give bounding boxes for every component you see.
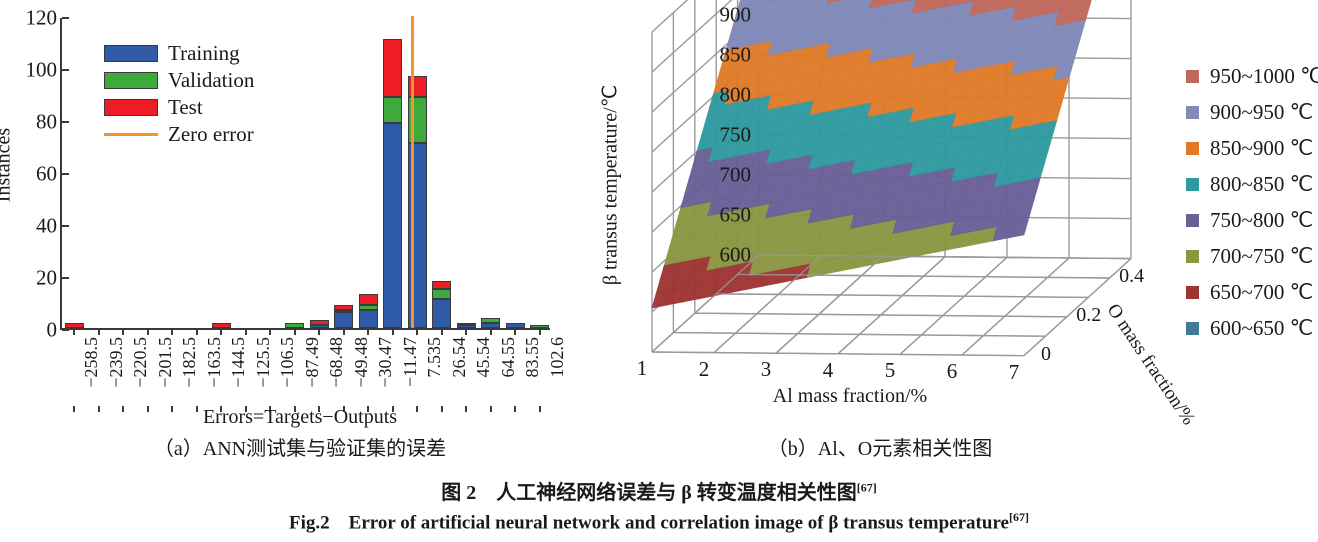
surface-y-tick-0: 0	[1041, 344, 1051, 364]
x-tick-label: −258.5	[82, 337, 100, 388]
legend-band-swatch	[1186, 214, 1199, 227]
x-tick-label: −125.5	[254, 337, 272, 388]
legend-band-label: 750~800 ℃	[1210, 210, 1313, 231]
bar-segment-training	[359, 310, 378, 328]
legend-band-label: 650~700 ℃	[1210, 282, 1313, 303]
legend-band-label: 850~900 ℃	[1210, 138, 1313, 159]
x-tick-label: 7.535	[425, 337, 443, 378]
x-tick-mark-lower	[490, 406, 492, 412]
legend-band-swatch	[1186, 250, 1199, 263]
y-tick-mark	[62, 329, 69, 331]
y-tick-label: 40	[36, 216, 62, 237]
surface-y-tick-0.2: 0.2	[1076, 305, 1101, 325]
bar-segment-test	[432, 281, 451, 289]
legend-swatch-training	[104, 45, 158, 62]
x-tick-mark	[98, 328, 100, 335]
y-tick-label: 80	[36, 112, 62, 133]
x-tick-label: −182.5	[180, 337, 198, 388]
histogram-plot-area: TrainingValidationTestZero error 0204060…	[60, 18, 550, 330]
y-tick-mark	[62, 17, 69, 19]
x-tick-mark	[269, 328, 271, 335]
panel-b-surface: β transus temperature/℃ 6006507007508008…	[600, 0, 1200, 470]
figure-caption-english-ref: [67]	[1009, 510, 1029, 524]
legend-band-swatch	[1186, 322, 1199, 335]
zero-error-line	[411, 16, 414, 328]
x-tick-mark	[539, 328, 541, 335]
bar-segment-validation	[359, 305, 378, 310]
temperature-band-legend: 950~1000 ℃900~950 ℃850~900 ℃800~850 ℃750…	[1186, 58, 1316, 346]
y-tick-80: 80	[36, 112, 62, 133]
bar-segment-test	[334, 305, 353, 310]
surface-x-tick-3: 3	[761, 359, 772, 380]
legend-label: Training	[168, 43, 240, 64]
histogram-y-axis-label: Instances	[0, 128, 16, 202]
panel-b-caption: （b）Al、O元素相关性图	[768, 432, 992, 461]
y-tick-mark	[62, 173, 69, 175]
x-tick-label: 45.54	[474, 337, 492, 378]
legend-band-swatch	[1186, 106, 1199, 119]
y-tick-60: 60	[36, 164, 62, 185]
legend-band-750800: 750~800 ℃	[1186, 202, 1316, 238]
surface-x-tick-5: 5	[885, 360, 896, 381]
x-tick-label: −11.47	[401, 337, 419, 387]
legend-band-800850: 800~850 ℃	[1186, 166, 1316, 202]
y-tick-120: 120	[26, 8, 63, 29]
bar-segment-test	[310, 320, 329, 325]
legend-band-850900: 850~900 ℃	[1186, 130, 1316, 166]
legend-item-validation: Validation	[104, 67, 254, 94]
surface-x-tick-1: 1	[637, 358, 648, 379]
x-tick-label: −201.5	[156, 337, 174, 388]
x-tick-label: −106.5	[278, 337, 296, 388]
panel-a-histogram: Instances TrainingValidationTestZero err…	[0, 0, 600, 470]
histogram-bar	[481, 318, 500, 328]
surface-y-tick-0.4: 0.4	[1119, 266, 1144, 286]
bar-segment-test	[383, 39, 402, 96]
bar-segment-validation	[457, 323, 476, 326]
x-tick-mark	[514, 328, 516, 335]
legend-label: Validation	[168, 70, 254, 91]
x-tick-mark	[465, 328, 467, 335]
bar-segment-training	[334, 312, 353, 328]
figure-caption-chinese-ref: [67]	[857, 480, 877, 494]
x-tick-label: 83.55	[523, 337, 541, 378]
legend-swatch-test	[104, 99, 158, 116]
x-tick-mark	[122, 328, 124, 335]
legend-band-swatch	[1186, 286, 1199, 299]
surface-x-axis-label: Al mass fraction/%	[773, 385, 927, 408]
x-tick-mark-lower	[73, 406, 75, 412]
legend-band-9501000: 950~1000 ℃	[1186, 58, 1316, 94]
x-tick-mark-lower	[171, 406, 173, 412]
figure-caption-chinese: 图 2 人工神经网络误差与 β 转变温度相关性图[67]	[441, 476, 877, 505]
x-tick-mark-lower	[416, 406, 418, 412]
surface-z-tick-750: 750	[720, 125, 752, 146]
x-tick-mark-lower	[122, 406, 124, 412]
histogram-bar	[432, 281, 451, 328]
legend-band-label: 900~950 ℃	[1210, 102, 1313, 123]
x-tick-label: −239.5	[107, 337, 125, 388]
bar-segment-validation	[334, 310, 353, 313]
bar-segment-test	[359, 294, 378, 304]
x-tick-label: −49.48	[352, 337, 370, 388]
histogram-legend: TrainingValidationTestZero error	[104, 40, 254, 148]
surface-z-tick-900: 900	[720, 5, 752, 26]
bar-segment-validation	[481, 318, 500, 323]
histogram-bar	[383, 39, 402, 328]
legend-band-label: 800~850 ℃	[1210, 174, 1313, 195]
y-tick-mark	[62, 121, 69, 123]
bar-segment-training	[383, 123, 402, 328]
x-tick-mark	[73, 328, 75, 335]
legend-band-label: 600~650 ℃	[1210, 318, 1313, 339]
x-tick-mark-lower	[147, 406, 149, 412]
legend-swatch-validation	[104, 72, 158, 89]
x-tick-mark-lower	[98, 406, 100, 412]
x-tick-label: −87.49	[303, 337, 321, 388]
figure-caption-chinese-text: 图 2 人工神经网络误差与 β 转变温度相关性图	[441, 482, 857, 504]
y-tick-mark	[62, 277, 69, 279]
histogram-bar	[359, 294, 378, 328]
x-tick-label: −163.5	[205, 337, 223, 388]
legend-band-label: 700~750 ℃	[1210, 246, 1313, 267]
histogram-bar	[310, 320, 329, 328]
legend-band-900950: 900~950 ℃	[1186, 94, 1316, 130]
x-tick-mark	[147, 328, 149, 335]
x-tick-mark	[343, 328, 345, 335]
legend-item-zero-error: Zero error	[104, 121, 254, 148]
legend-item-test: Test	[104, 94, 254, 121]
x-tick-mark	[220, 328, 222, 335]
legend-label: Test	[168, 97, 203, 118]
bar-segment-validation	[383, 97, 402, 123]
x-tick-label: −30.47	[376, 337, 394, 388]
y-tick-100: 100	[26, 60, 63, 81]
x-tick-mark	[171, 328, 173, 335]
x-tick-label: 102.6	[548, 337, 566, 378]
y-tick-mark	[62, 225, 69, 227]
x-tick-mark-lower	[514, 406, 516, 412]
x-tick-label: −144.5	[229, 337, 247, 388]
x-tick-mark	[318, 328, 320, 335]
y-tick-40: 40	[36, 216, 62, 237]
histogram-x-axis-label: Errors=Targets−Outputs	[203, 406, 397, 429]
y-tick-label: 60	[36, 164, 62, 185]
x-tick-mark-lower	[539, 406, 541, 412]
x-tick-label: −68.48	[327, 337, 345, 388]
x-tick-mark	[245, 328, 247, 335]
x-tick-mark-lower	[441, 406, 443, 412]
x-tick-mark	[441, 328, 443, 335]
surface-x-tick-4: 4	[823, 360, 834, 381]
legend-band-swatch	[1186, 178, 1199, 191]
x-tick-mark	[367, 328, 369, 335]
surface-z-tick-650: 650	[720, 205, 752, 226]
panel-a-caption: （a）ANN测试集与验证集的误差	[154, 432, 446, 461]
surface-x-tick-7: 7	[1009, 362, 1020, 383]
legend-band-650700: 650~700 ℃	[1186, 274, 1316, 310]
x-tick-mark-lower	[465, 406, 467, 412]
x-tick-mark	[196, 328, 198, 335]
surface-plot-svg	[600, 0, 1200, 400]
y-tick-label: 100	[26, 60, 63, 81]
figure-caption-english: Fig.2 Error of artificial neural network…	[289, 510, 1029, 534]
surface-x-tick-2: 2	[699, 359, 710, 380]
figure-caption-english-text: Fig.2 Error of artificial neural network…	[289, 512, 1009, 533]
legend-label: Zero error	[168, 124, 254, 145]
legend-swatch-zero-error	[104, 133, 158, 136]
y-tick-0: 0	[47, 320, 63, 341]
x-tick-label: 64.55	[499, 337, 517, 378]
surface-x-tick-6: 6	[947, 361, 958, 382]
legend-item-training: Training	[104, 40, 254, 67]
x-tick-label: −220.5	[131, 337, 149, 388]
legend-band-swatch	[1186, 142, 1199, 155]
x-tick-mark	[392, 328, 394, 335]
y-tick-label: 20	[36, 268, 62, 289]
x-tick-mark	[490, 328, 492, 335]
bar-segment-training	[432, 299, 451, 328]
surface-z-tick-850: 850	[720, 45, 752, 66]
surface-z-tick-600: 600	[720, 245, 752, 266]
y-tick-mark	[62, 69, 69, 71]
x-tick-mark	[416, 328, 418, 335]
y-tick-20: 20	[36, 268, 62, 289]
legend-band-label: 950~1000 ℃	[1210, 66, 1318, 87]
legend-band-600650: 600~650 ℃	[1186, 310, 1316, 346]
surface-z-tick-700: 700	[720, 165, 752, 186]
bar-segment-validation	[432, 289, 451, 299]
y-tick-label: 120	[26, 8, 63, 29]
x-tick-mark	[294, 328, 296, 335]
x-tick-mark-lower	[196, 406, 198, 412]
x-tick-label: 26.54	[450, 337, 468, 378]
legend-band-swatch	[1186, 70, 1199, 83]
y-tick-label: 0	[47, 320, 63, 341]
legend-band-700750: 700~750 ℃	[1186, 238, 1316, 274]
surface-z-tick-800: 800	[720, 85, 752, 106]
histogram-bar	[334, 305, 353, 328]
